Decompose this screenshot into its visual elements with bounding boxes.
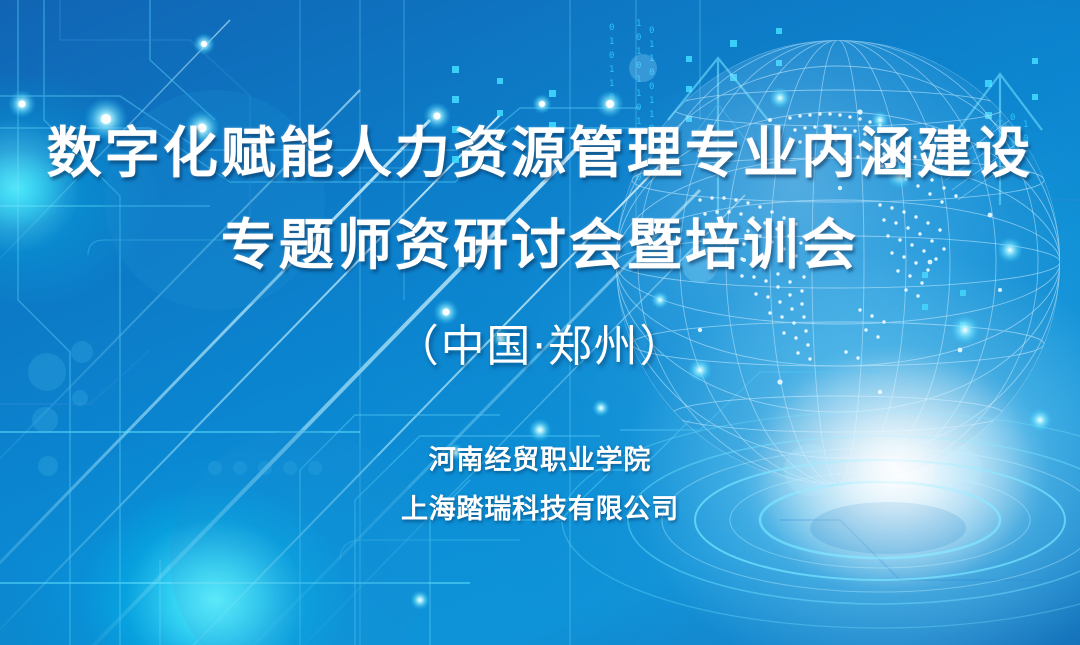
organizer-primary: 河南经贸职业学院 <box>429 447 651 474</box>
poster-text-block: 数字化赋能人力资源管理专业内涵建设 专题师资研讨会暨培训会 （中国·郑州） 河南… <box>0 0 1080 645</box>
poster-title-line-1: 数字化赋能人力资源管理专业内涵建设 <box>47 126 1033 181</box>
conference-poster: 101 011 010 010 011 001 101 010 110 011 … <box>0 0 1080 645</box>
organizer-secondary: 上海踏瑞科技有限公司 <box>401 496 679 523</box>
poster-location: （中国·郑州） <box>395 325 685 369</box>
poster-title-line-2: 专题师资研讨会暨培训会 <box>221 218 859 273</box>
